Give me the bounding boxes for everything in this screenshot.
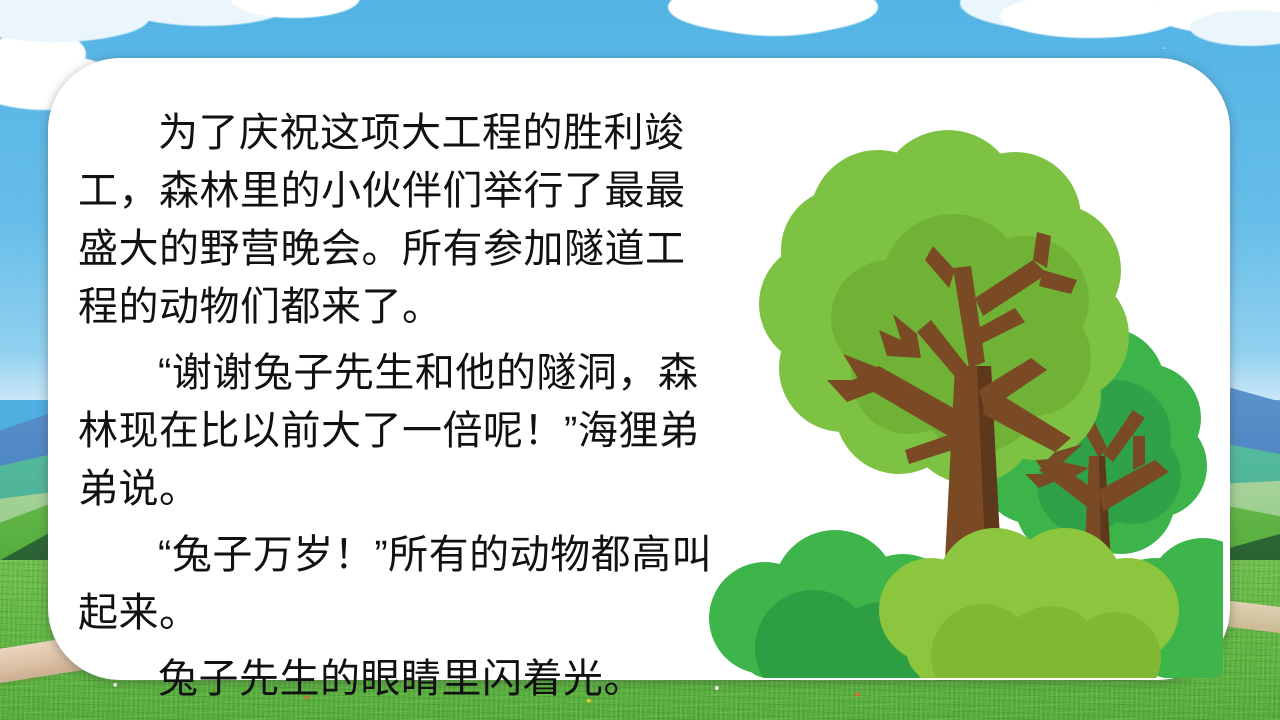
content-card: 为了庆祝这项大工程的胜利竣工，森林里的小伙伴们举行了最最盛大的野营晚会。所有参加… (48, 58, 1230, 680)
story-text-block: 为了庆祝这项大工程的胜利竣工，森林里的小伙伴们举行了最最盛大的野营晚会。所有参加… (78, 104, 718, 720)
bush-cluster-foreground (709, 528, 1223, 678)
story-paragraph: 兔子先生的眼睛里闪着光。 (78, 650, 718, 708)
tree-illustration (703, 118, 1223, 678)
story-paragraph: “谢谢兔子先生和他的隧洞，森林现在比以前大了一倍呢！”海狸弟弟说。 (78, 344, 718, 518)
slide-canvas: 为了庆祝这项大工程的胜利竣工，森林里的小伙伴们举行了最最盛大的野营晚会。所有参加… (0, 0, 1280, 720)
story-paragraph: “兔子万岁！”所有的动物都高叫起来。 (78, 526, 718, 642)
story-paragraph: “鼹鼠先生，我给你准备的一个惊喜哦！” (78, 716, 718, 720)
bush-front-shade (931, 604, 1161, 678)
story-paragraph: 为了庆祝这项大工程的胜利竣工，森林里的小伙伴们举行了最最盛大的野营晚会。所有参加… (78, 104, 718, 336)
